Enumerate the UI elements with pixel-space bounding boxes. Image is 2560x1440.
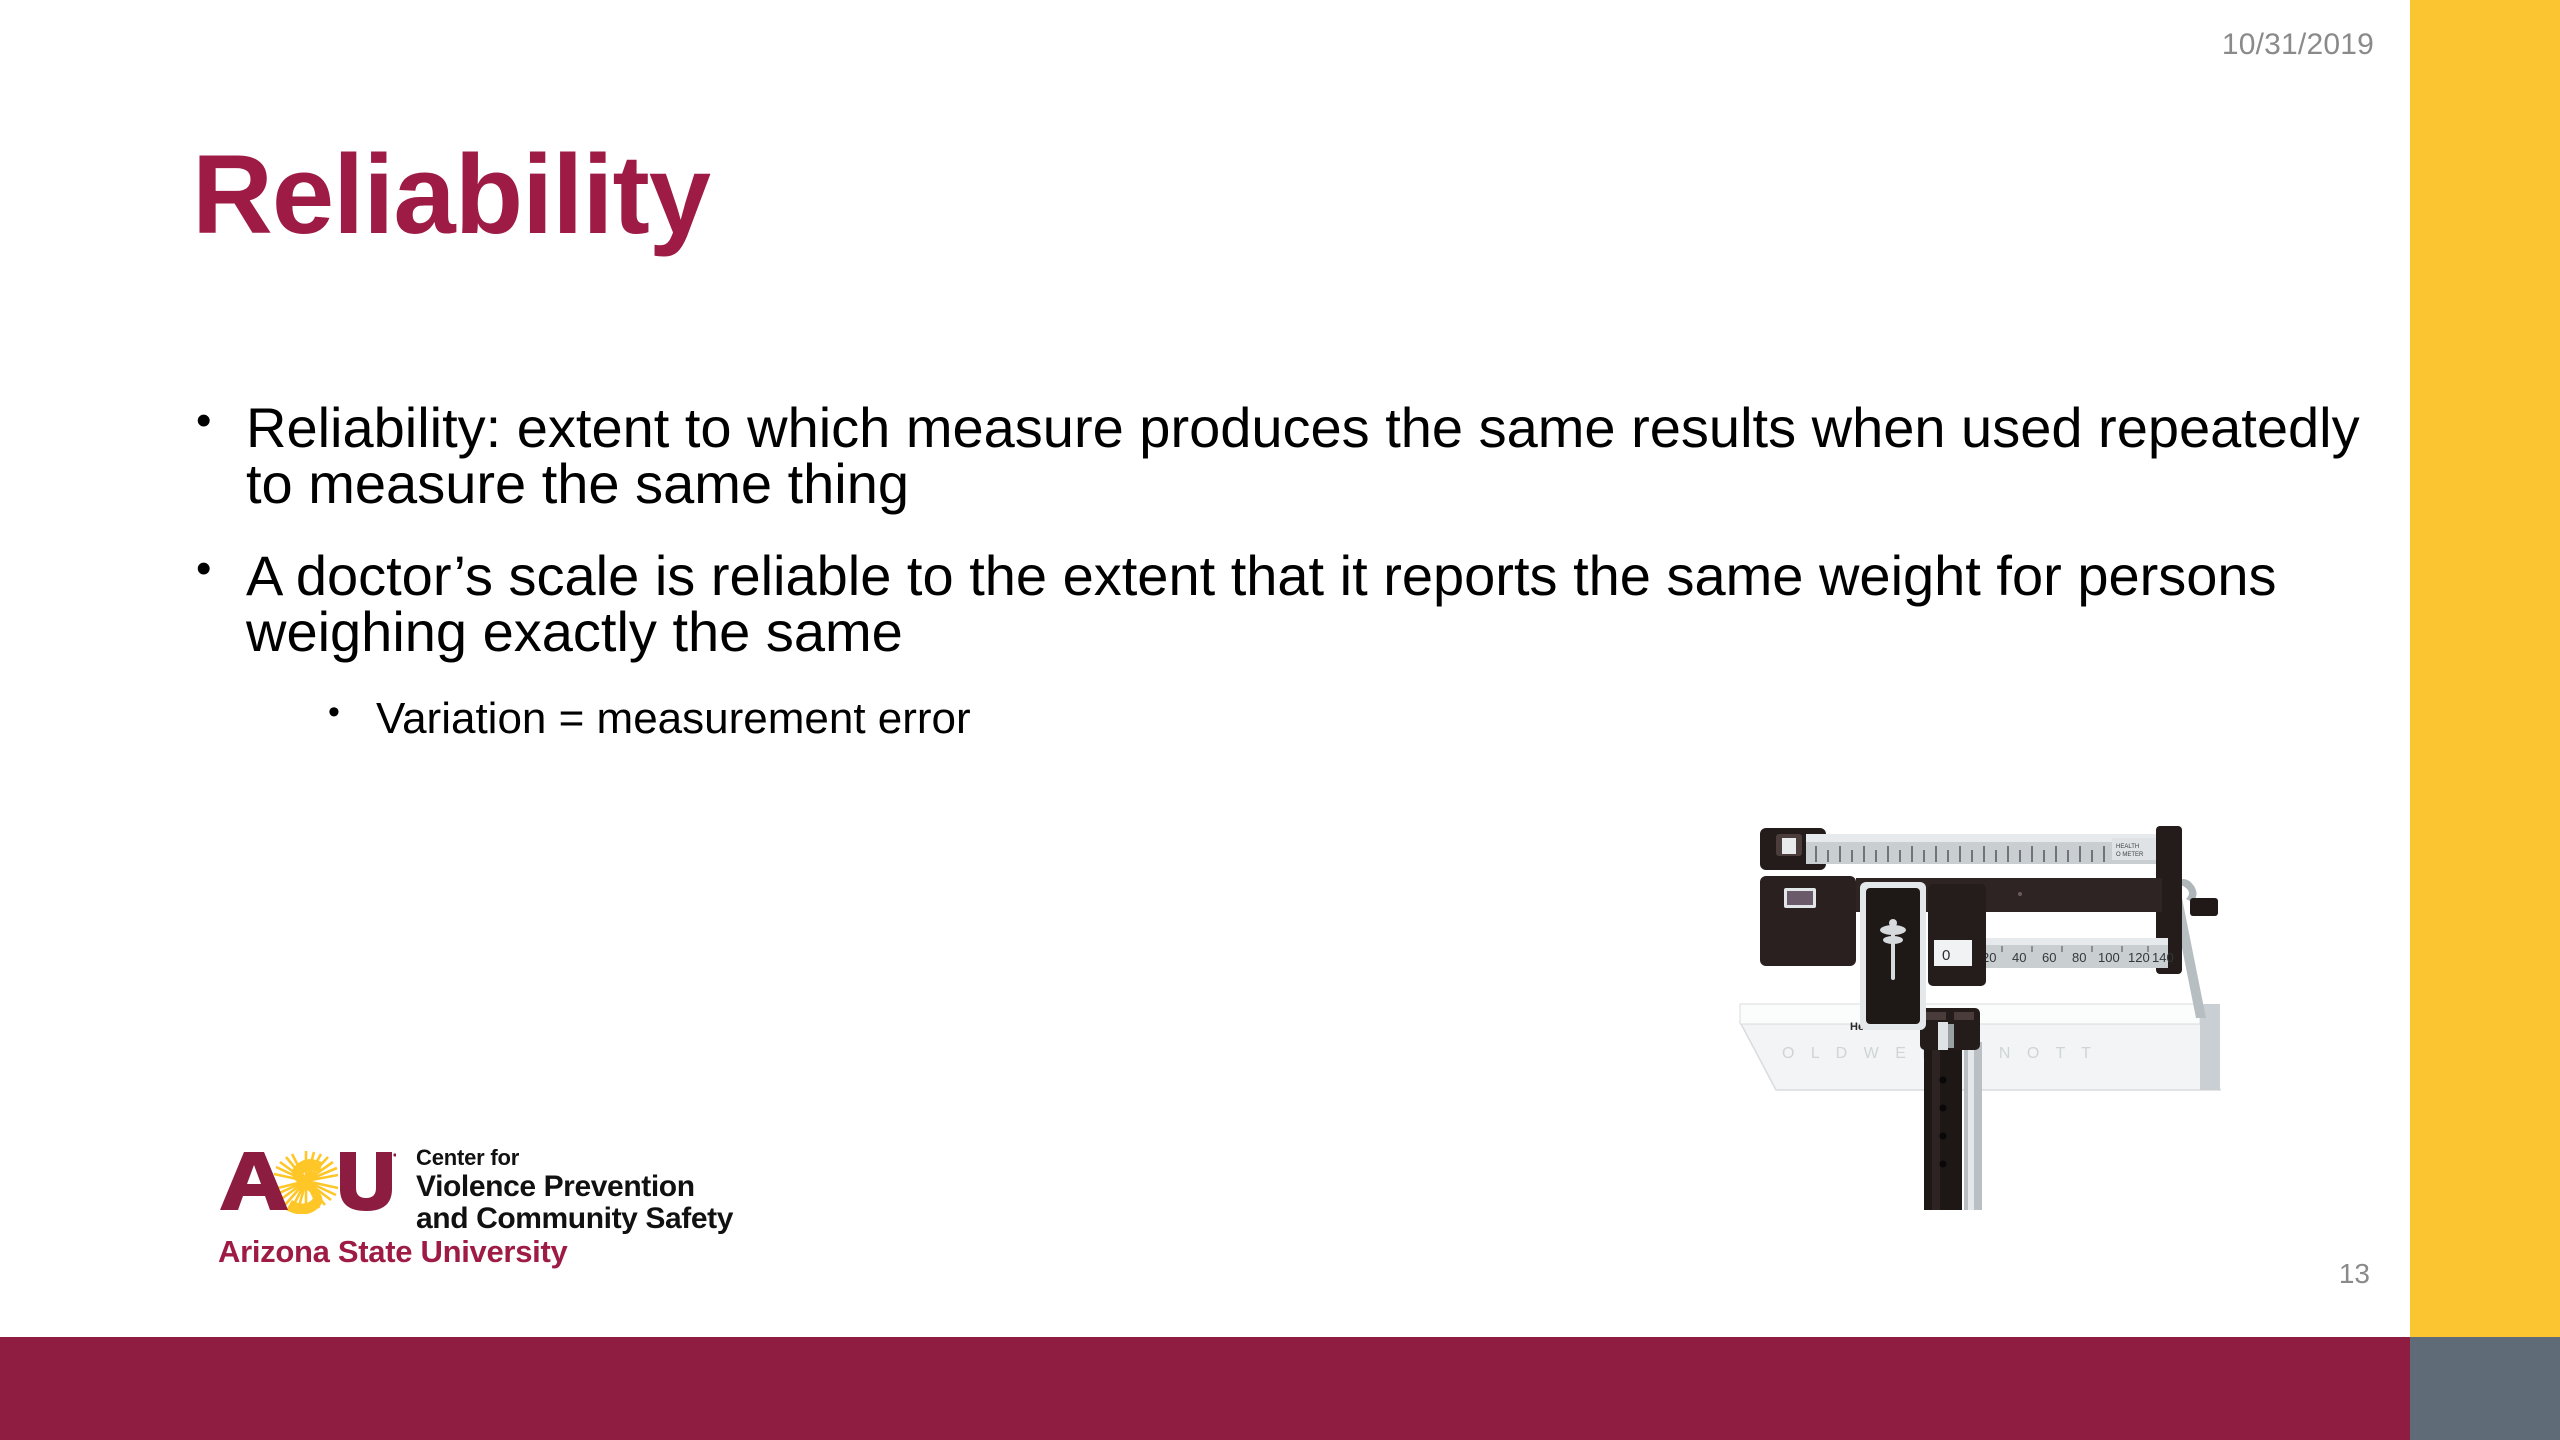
bottom-maroon-bar <box>0 1337 2410 1440</box>
presentation-slide: 10/31/2019 Reliability Reliability: exte… <box>0 0 2560 1440</box>
center-line-3: and Community Safety <box>416 1203 733 1235</box>
center-line-2: Violence Prevention <box>416 1171 733 1203</box>
bullet-item: Reliability: extent to which measure pro… <box>188 400 2368 512</box>
scale-small-poise: 0 <box>1928 884 1986 986</box>
asu-center-logo: Center for Violence Prevention and Commu… <box>218 1148 778 1270</box>
scale-column-head <box>1920 1008 1980 1050</box>
center-line-1: Center for <box>416 1146 733 1171</box>
bottom-gray-bar <box>2410 1337 2560 1440</box>
svg-text:HEALTH: HEALTH <box>2116 844 2139 850</box>
asu-letter-a <box>220 1152 288 1210</box>
asu-wordmark-icon <box>218 1148 396 1214</box>
svg-text:40: 40 <box>2012 950 2026 965</box>
bullet-item: A doctor’s scale is reliable to the exte… <box>188 548 2368 660</box>
svg-text:60: 60 <box>2042 950 2056 965</box>
svg-text:0: 0 <box>1942 947 1950 964</box>
scale-column <box>1924 1026 1982 1210</box>
svg-text:140: 140 <box>2152 950 2174 965</box>
scale-poise-weight <box>1860 882 1926 1030</box>
svg-text:100: 100 <box>2098 950 2120 965</box>
slide-body: Reliability: extent to which measure pro… <box>188 400 2368 742</box>
asu-letter-u <box>340 1152 392 1211</box>
doctors-scale-image: O L D W E L L K N O T T Healthometer <box>1720 790 2280 1210</box>
registered-mark-icon <box>393 1153 396 1156</box>
slide-title: Reliability <box>192 136 710 254</box>
gold-accent-band <box>2410 0 2560 1337</box>
center-name-block: Center for Violence Prevention and Commu… <box>416 1146 733 1235</box>
slide-date: 10/31/2019 <box>2134 28 2374 62</box>
svg-text:O METER: O METER <box>2116 852 2144 858</box>
page-number: 13 <box>2210 1258 2370 1290</box>
scale-illustration: O L D W E L L K N O T T Healthometer <box>1720 790 2280 1210</box>
university-name: Arizona State University <box>218 1234 567 1270</box>
svg-text:120: 120 <box>2128 950 2150 965</box>
sub-bullet-item: Variation = measurement error <box>188 696 2368 742</box>
svg-text:80: 80 <box>2072 950 2086 965</box>
